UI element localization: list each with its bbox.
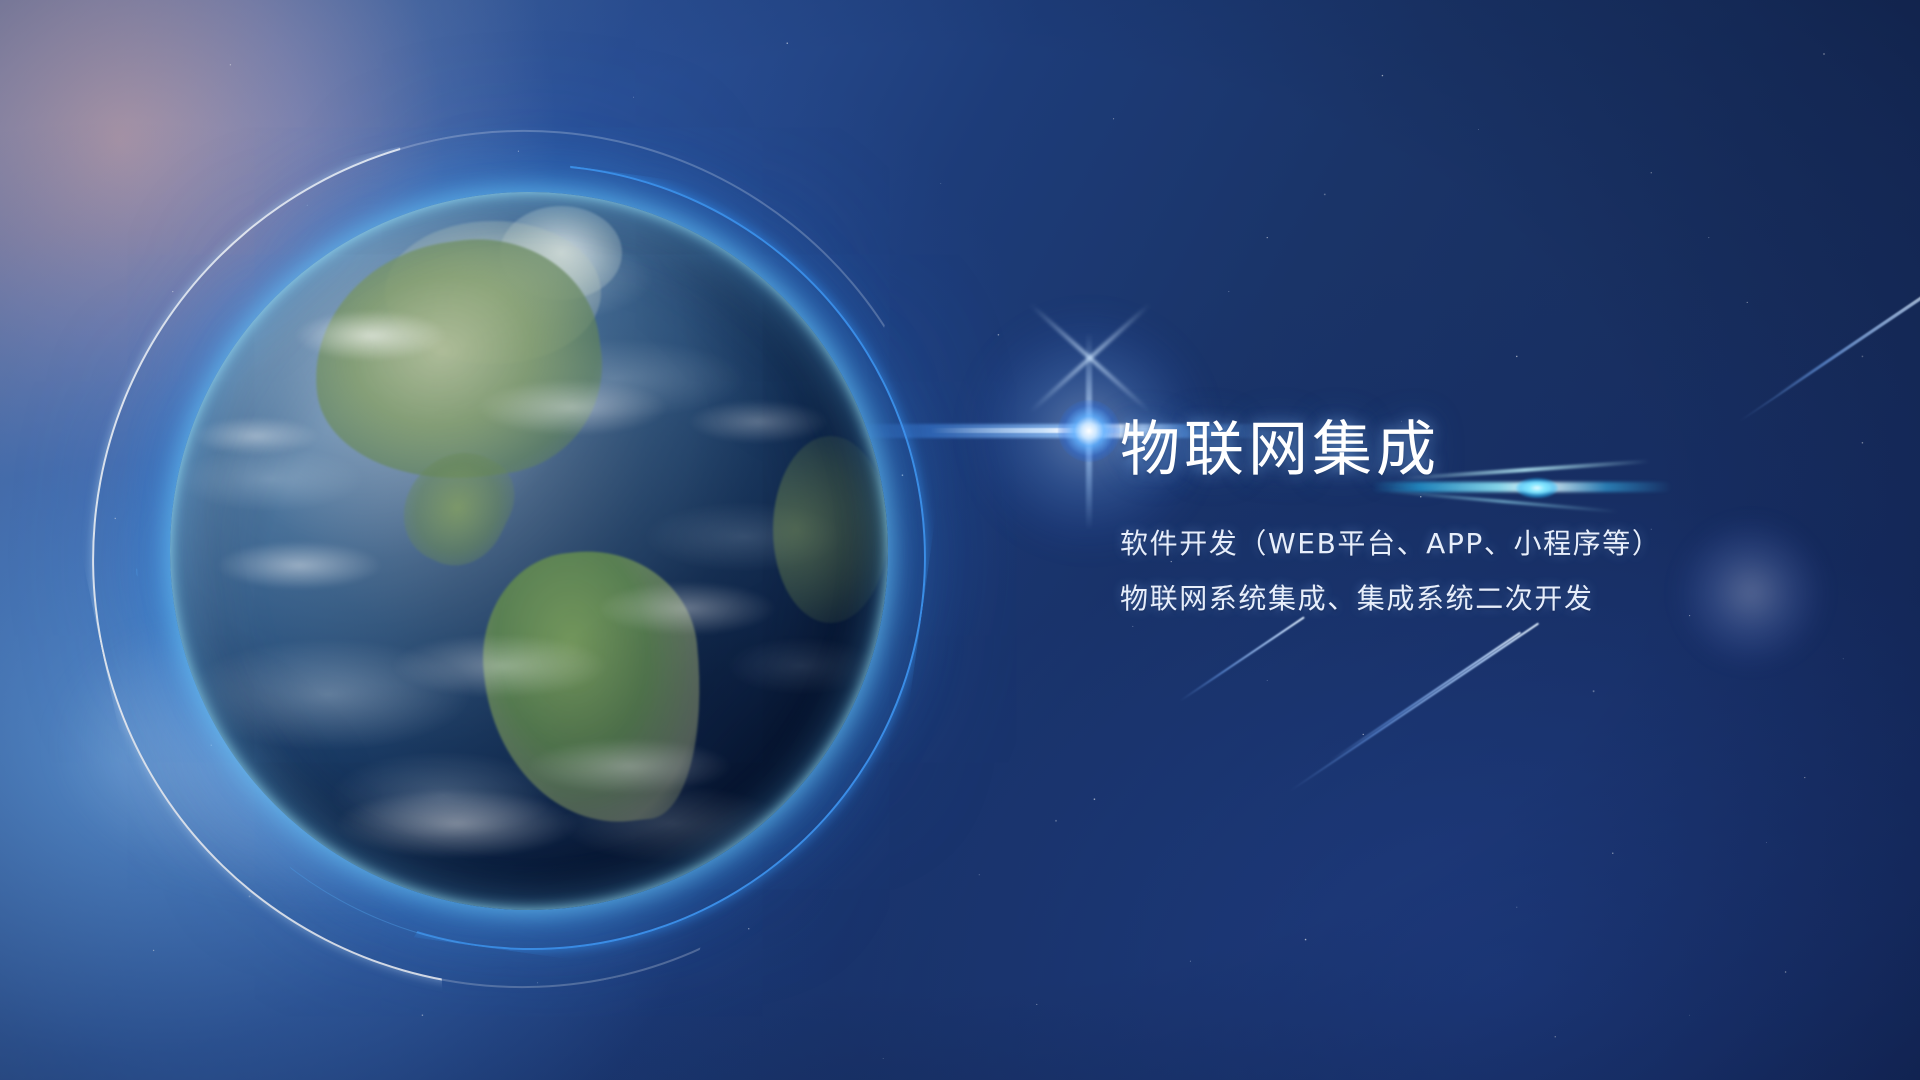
primary-lens-flare-core: [1058, 400, 1120, 462]
earth-globe-icon: [170, 192, 888, 910]
subtitle-line-2: 物联网系统集成、集成系统二次开发: [1120, 585, 1840, 613]
meteor-streak: [1774, 289, 1920, 397]
subtitle-line-1: 软件开发（WEB平台、APP、小程序等）: [1120, 530, 1840, 558]
primary-lens-flare-diagonal-streak-a: [1029, 303, 1151, 413]
meteor-streak: [1329, 632, 1521, 763]
meteor-streak: [1739, 269, 1920, 422]
globe-atmosphere-rim: [170, 192, 888, 910]
hero-text-block: 物联网集成 软件开发（WEB平台、APP、小程序等） 物联网系统集成、集成系统二…: [1120, 420, 1840, 613]
primary-lens-flare-diagonal-streak-b: [1029, 303, 1151, 413]
meteor-streak: [1289, 622, 1539, 792]
earth-globe-group: [170, 192, 888, 910]
primary-lens-flare-vertical-streak: [1086, 332, 1092, 530]
meteor-streak: [1179, 616, 1305, 702]
hero-banner: 物联网集成 软件开发（WEB平台、APP、小程序等） 物联网系统集成、集成系统二…: [0, 0, 1920, 1080]
page-title: 物联网集成: [1120, 420, 1840, 480]
